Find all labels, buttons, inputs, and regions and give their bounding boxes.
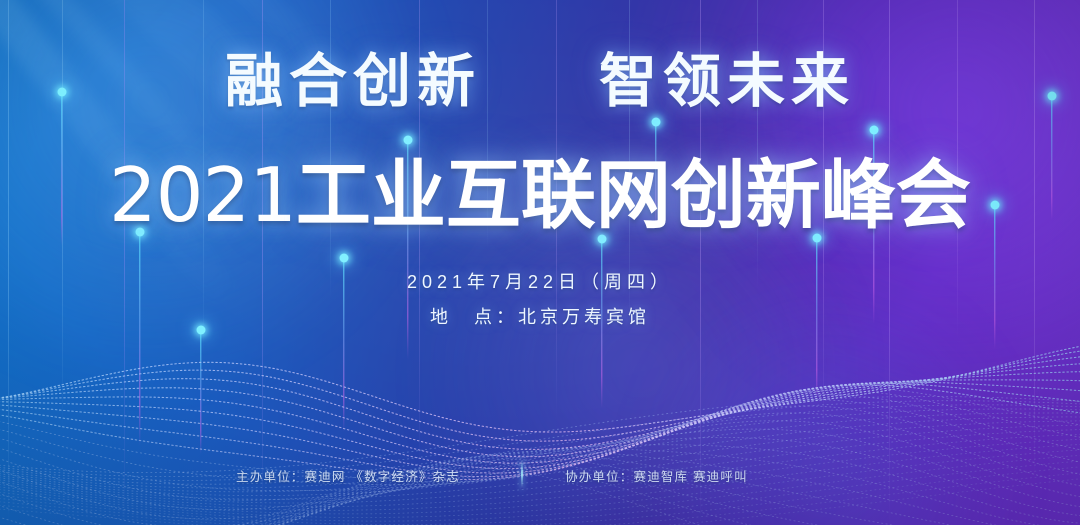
pin-stem — [200, 334, 201, 454]
footer-organizer: 主办单位：赛迪网 《数字经济》杂志 — [236, 466, 460, 485]
wave-contour-line — [0, 451, 1080, 525]
wave-contour-line — [0, 345, 1080, 433]
footer-divider — [521, 459, 523, 489]
wave-contour-line — [0, 350, 1080, 442]
headline-part-1: 融合创新 — [225, 49, 481, 114]
pin-dot-icon — [652, 118, 661, 127]
title-name: 工业互联网创新峰会 — [296, 153, 971, 237]
event-date: 2021年7月22日（周四） — [0, 268, 1080, 294]
poster-footer: 主办单位：赛迪网 《数字经济》杂志 协办单位：赛迪智库 赛迪呼叫 — [0, 463, 1080, 487]
wave-swirl-line — [0, 397, 1080, 473]
wave-contour-line — [0, 356, 1080, 450]
conference-poster: 融合创新智领未来 2021工业互联网创新峰会 2021年7月22日（周四） 地 … — [0, 0, 1080, 525]
poster-title: 2021工业互联网创新峰会 — [0, 134, 1080, 243]
wave-contour-line — [0, 382, 1080, 473]
title-year: 2021 — [109, 151, 296, 239]
wave-contour-line — [0, 406, 1080, 510]
pin-dot-icon — [340, 254, 349, 263]
pin-marker — [196, 330, 206, 456]
event-location: 地 点：北京万寿宾馆 — [0, 303, 1080, 329]
wave-contour-line — [0, 380, 1080, 469]
headline-part-2: 智领未来 — [599, 49, 855, 114]
wave-contour-line — [0, 363, 1080, 457]
footer-co-organizer: 协办单位：赛迪智库 赛迪呼叫 — [565, 466, 748, 485]
poster-headline: 融合创新智领未来 — [0, 34, 1080, 118]
pin-marker — [135, 232, 145, 448]
wave-contour-line — [0, 372, 1080, 464]
